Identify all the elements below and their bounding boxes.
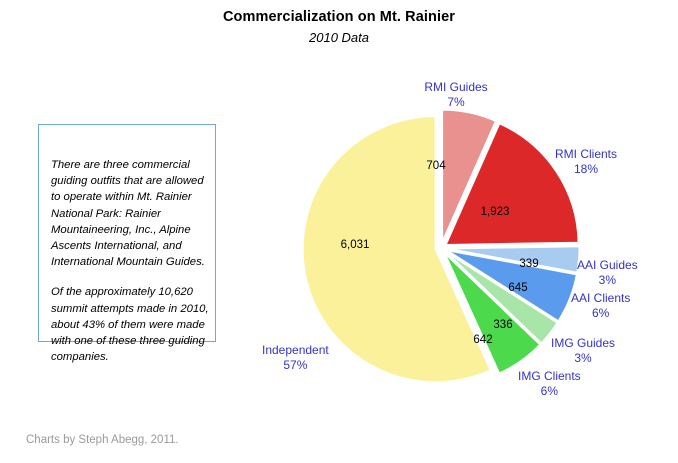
pie-slice-percent: 6%	[571, 306, 630, 321]
pie-slice-label: AAI Clients6%	[571, 291, 630, 320]
pie-slice-name: Independent	[262, 343, 329, 357]
pie-slice-name: IMG Clients	[518, 369, 581, 383]
pie-slice-name: IMG Guides	[551, 336, 615, 350]
pie-slice-label: AAI Guides3%	[577, 258, 638, 287]
pie-slice-value: 704	[426, 160, 445, 172]
pie-slice-percent: 7%	[424, 95, 487, 110]
chart-container: Commercialization on Mt. Rainier 2010 Da…	[0, 0, 678, 463]
pie-slice-name: RMI Guides	[424, 80, 487, 94]
pie-slice-percent: 6%	[518, 384, 581, 399]
pie-slice-label: IMG Guides3%	[551, 336, 615, 365]
pie-slice-percent: 3%	[577, 273, 638, 288]
credit-text: Charts by Steph Abegg, 2011.	[26, 434, 179, 446]
pie-slice-name: AAI Guides	[577, 258, 638, 272]
pie-slice-label: RMI Guides7%	[424, 80, 487, 109]
pie-slice-value: 339	[519, 258, 538, 270]
pie-slice-name: AAI Clients	[571, 291, 630, 305]
pie-slice-value: 1,923	[481, 206, 510, 218]
pie-slice-label: RMI Clients18%	[555, 147, 617, 176]
pie-slice-label: Independent57%	[262, 343, 329, 372]
pie-slice-name: RMI Clients	[555, 147, 617, 161]
pie-slice-value: 642	[473, 334, 492, 346]
pie-slice-label: IMG Clients6%	[518, 369, 581, 398]
pie-slice-percent: 57%	[262, 358, 329, 373]
pie-slice-value: 645	[508, 282, 527, 294]
pie-slice-value: 336	[493, 319, 512, 331]
pie-slice-percent: 18%	[555, 162, 617, 177]
pie-slice-value: 6,031	[341, 239, 370, 251]
pie-slice-percent: 3%	[551, 351, 615, 366]
